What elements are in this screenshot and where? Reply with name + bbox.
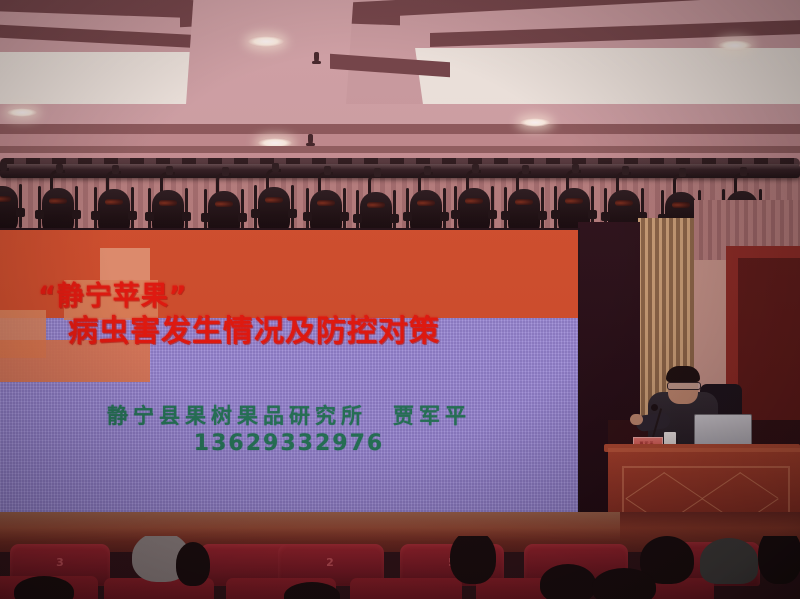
audience-seating: 3 2 5 9 bbox=[0, 536, 800, 599]
slide-subtitle-affiliation: 静宁县果树果品研究所 贾军平 bbox=[0, 402, 578, 430]
sprinkler-head bbox=[308, 134, 313, 146]
wall-trim bbox=[0, 146, 800, 153]
audience-head bbox=[758, 536, 800, 584]
slide-title-line-2: 病虫害发生情况及防控对策 bbox=[68, 315, 578, 349]
ceiling-downlight bbox=[248, 36, 284, 47]
ceiling-downlight bbox=[718, 40, 752, 51]
ceiling-downlight bbox=[7, 108, 37, 117]
audience-head bbox=[700, 538, 758, 584]
auditorium-photo: “静宁苹果” 病虫害发生情况及防控对策 静宁县果树果品研究所 贾军平 13629… bbox=[0, 0, 800, 599]
seat-front-row[interactable] bbox=[350, 578, 462, 599]
audience-head bbox=[592, 568, 656, 599]
seat-number: 3 bbox=[40, 556, 80, 569]
slide-title-line-1: “静宁苹果” bbox=[38, 282, 578, 312]
seat-number: 2 bbox=[310, 556, 350, 569]
audience-head bbox=[450, 536, 496, 584]
audience-head bbox=[176, 542, 210, 586]
led-screen: “静宁苹果” 病虫害发生情况及防控对策 静宁县果树果品研究所 贾军平 13629… bbox=[0, 230, 578, 512]
glasses-icon bbox=[667, 382, 701, 390]
ceiling-downlight bbox=[520, 118, 550, 127]
audience-head bbox=[540, 564, 596, 599]
laptop[interactable] bbox=[694, 414, 752, 448]
slide-subtitle-phone: 13629332976 bbox=[0, 430, 578, 458]
speaker-hand bbox=[630, 414, 643, 425]
microphone-head bbox=[651, 404, 658, 411]
sprinkler-head bbox=[314, 52, 319, 64]
speaker-hair bbox=[666, 366, 700, 382]
slide-title: “静宁苹果” 病虫害发生情况及防控对策 bbox=[0, 282, 578, 349]
slide-subtitle: 静宁县果树果品研究所 贾军平 13629332976 bbox=[0, 402, 578, 458]
ceiling bbox=[0, 0, 800, 152]
